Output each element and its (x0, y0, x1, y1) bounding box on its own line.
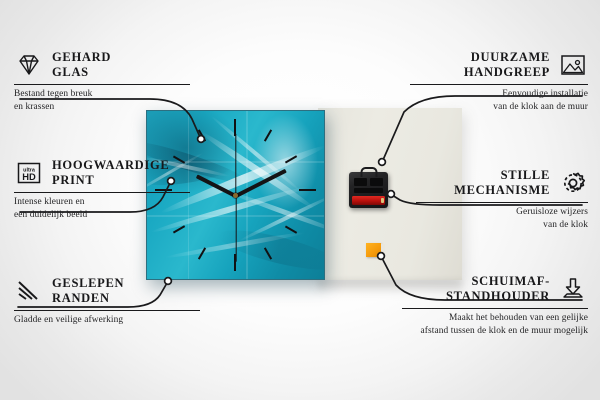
feature-title-line1: STILLE (416, 168, 550, 183)
foam-spacer (366, 243, 381, 257)
feature-desc-line2: van de klok (416, 219, 588, 232)
picture-frame-icon (558, 52, 588, 78)
feature-desc: Intense kleuren en een duidelijk beeld (14, 196, 190, 221)
second-hand-tail (235, 133, 236, 195)
feature-desc-line2: een duidelijk beeld (14, 209, 190, 222)
feature-desc-line1: Eenvoudige installatie (410, 88, 588, 101)
hour-marker (299, 189, 316, 191)
feature-desc-line1: Maakt het behouden van een gelijke (402, 312, 588, 325)
beveled-edges-icon (14, 278, 44, 304)
feature-title-line2: RANDEN (52, 291, 124, 306)
feature-hoogwaardige-print: ultra HD HOOGWAARDIGE PRINT Intense kleu… (14, 158, 190, 221)
hands-center-pin (233, 193, 238, 198)
second-hand (235, 195, 236, 261)
feature-title-line2: MECHANISME (416, 183, 550, 198)
feature-header: GESLEPEN RANDEN (14, 276, 200, 307)
svg-text:HD: HD (22, 171, 36, 182)
feature-rule (402, 308, 588, 310)
movement-slot-right (370, 178, 383, 186)
aa-battery (352, 196, 385, 205)
feature-header: SCHUIMAF- STANDHOUDER (402, 274, 588, 305)
feature-title-line2: GLAS (52, 65, 111, 80)
feature-desc: Gladde en veilige afwerking (14, 314, 200, 327)
feature-title: HOOGWAARDIGE PRINT (52, 158, 169, 189)
movement-slot-left (354, 178, 367, 186)
feature-gehard-glas: GEHARD GLAS Bestand tegen breuk en krass… (14, 50, 190, 113)
feature-title-line1: SCHUIMAF- (402, 274, 550, 289)
feature-rule (416, 202, 588, 204)
feature-desc-line1: Geruisloze wijzers (416, 206, 588, 219)
feature-desc-line1: Bestand tegen breuk (14, 88, 190, 101)
feature-desc-line2: afstand tussen de klok en de muur mogeli… (402, 325, 588, 338)
feature-desc-line2: van de klok aan de muur (410, 101, 588, 114)
feature-rule (410, 84, 588, 86)
diamond-icon (14, 52, 44, 78)
feature-header: ultra HD HOOGWAARDIGE PRINT (14, 158, 190, 189)
feature-title: GEHARD GLAS (52, 50, 111, 81)
feature-desc-line1: Gladde en veilige afwerking (14, 314, 200, 327)
feature-title-line1: GEHARD (52, 50, 111, 65)
feature-title: GESLEPEN RANDEN (52, 276, 124, 307)
feature-header: STILLE MECHANISME (416, 168, 588, 199)
spacer-arrow-icon (558, 276, 588, 302)
feature-title-line2: STANDHOUDER (402, 289, 550, 304)
quartz-movement (349, 172, 388, 208)
movement-hanger (360, 167, 377, 177)
feature-stille-mechanisme: STILLE MECHANISME Geruisloze wijzers van… (416, 168, 588, 231)
feature-desc: Eenvoudige installatie van de klok aan d… (410, 88, 588, 113)
feature-schuimaf-standhouder: SCHUIMAF- STANDHOUDER Maakt het behouden… (402, 274, 588, 337)
movement-slot-bottom (354, 188, 383, 193)
gear-icon (558, 170, 588, 196)
feature-desc: Geruisloze wijzers van de klok (416, 206, 588, 231)
feature-geslepen-randen: GESLEPEN RANDEN Gladde en veilige afwerk… (14, 276, 200, 327)
feature-title-line2: PRINT (52, 173, 169, 188)
ultra-hd-icon: ultra HD (14, 160, 44, 186)
feature-desc-line1: Intense kleuren en (14, 196, 190, 209)
feature-title: SCHUIMAF- STANDHOUDER (402, 274, 550, 305)
feature-title-line1: GESLEPEN (52, 276, 124, 291)
feature-header: DUURZAME HANDGREEP (410, 50, 588, 81)
feature-duurzame-handgreep: DUURZAME HANDGREEP Eenvoudige installati… (410, 50, 588, 113)
feature-rule (14, 84, 190, 86)
feature-title-line1: DUURZAME (410, 50, 550, 65)
feature-title-line2: HANDGREEP (410, 65, 550, 80)
feature-desc: Bestand tegen breuk en krassen (14, 88, 190, 113)
feature-header: GEHARD GLAS (14, 50, 190, 81)
feature-rule (14, 310, 200, 312)
feature-title: STILLE MECHANISME (416, 168, 550, 199)
feature-title-line1: HOOGWAARDIGE (52, 158, 169, 173)
feature-rule (14, 192, 190, 194)
infographic-canvas: GEHARD GLAS Bestand tegen breuk en krass… (0, 0, 600, 400)
feature-desc-line2: en krassen (14, 101, 190, 114)
feature-desc: Maakt het behouden van een gelijke afsta… (402, 312, 588, 337)
feature-title: DUURZAME HANDGREEP (410, 50, 550, 81)
